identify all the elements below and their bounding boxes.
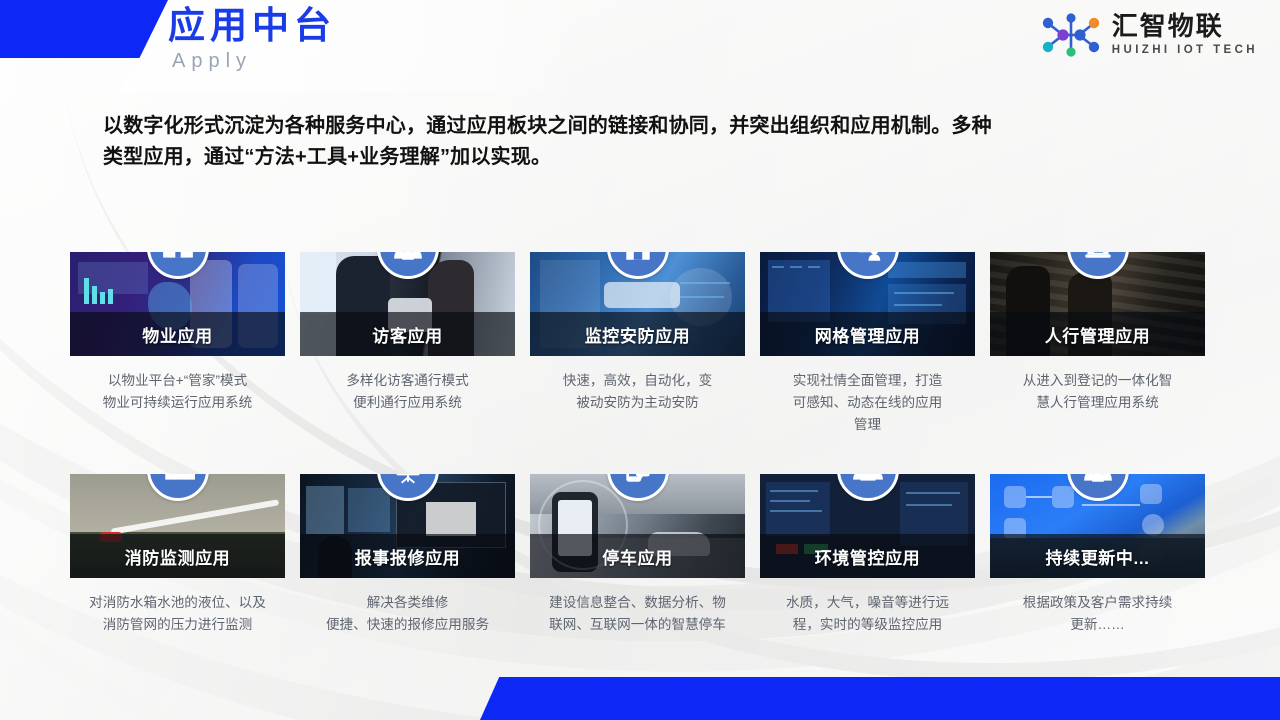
card-title: 监控安防应用 (585, 322, 691, 347)
card-xiaofang[interactable]: 消防监测应用 对消防水箱水池的液位、以及 消防管网的压力进行监测 (70, 474, 285, 636)
card-title-band: 监控安防应用 (530, 312, 745, 356)
page-subtitle: Apply (172, 50, 252, 73)
desc-line: 可感知、动态在线的应用 (762, 392, 973, 414)
card-image: 停车应用 (530, 474, 745, 578)
card-description: 根据政策及客户需求持续 更新…… (990, 592, 1205, 636)
card-image: 报事报修应用 (300, 474, 515, 578)
header-blue-shape (0, 0, 168, 58)
card-title-band: 报事报修应用 (300, 534, 515, 578)
card-title-band: 人行管理应用 (990, 312, 1205, 356)
card-renxing[interactable]: 人行管理应用 从进入到登记的一体化智 慧人行管理应用系统 (990, 252, 1205, 436)
card-title: 停车应用 (602, 544, 672, 569)
page-title: 应用中台 (168, 6, 336, 46)
card-huanjing[interactable]: 环境管控应用 水质，大气，噪音等进行远 程，实时的等级监控应用 (760, 474, 975, 636)
desc-line: 便利通行应用系统 (302, 392, 513, 414)
logo-text-cn: 汇智物联 (1112, 13, 1258, 39)
card-tingche[interactable]: 停车应用 建设信息整合、数据分析、物 联网、互联网一体的智慧停车 (530, 474, 745, 636)
card-title: 消防监测应用 (125, 544, 231, 569)
card-title: 网格管理应用 (815, 322, 921, 347)
desc-line: 更新…… (992, 614, 1203, 636)
slide-root: 应用中台 Apply 汇智物联 (0, 0, 1280, 720)
card-description: 水质，大气，噪音等进行远 程，实时的等级监控应用 (760, 592, 975, 636)
card-title-band: 访客应用 (300, 312, 515, 356)
application-card-grid: 物业应用 以物业平台+“管家”模式 物业可持续运行应用系统 (70, 252, 1214, 636)
desc-line: 便捷、快速的报修应用服务 (302, 614, 513, 636)
card-description: 对消防水箱水池的液位、以及 消防管网的压力进行监测 (70, 592, 285, 636)
molecule-network-icon (1039, 12, 1103, 58)
brand-logo: 汇智物联 HUIZHI IOT TECH (1039, 12, 1258, 58)
card-image: 访客应用 (300, 252, 515, 356)
card-description: 快速，高效，自动化，变 被动安防为主动安防 (530, 370, 745, 414)
card-image: 消防监测应用 (70, 474, 285, 578)
footer-blue-shape (480, 677, 1280, 720)
card-image: 监控安防应用 (530, 252, 745, 356)
desc-line: 对消防水箱水池的液位、以及 (72, 592, 283, 614)
card-image: 环境管控应用 (760, 474, 975, 578)
desc-line: 建设信息整合、数据分析、物 (532, 592, 743, 614)
card-gengxin[interactable]: 持续更新中... 根据政策及客户需求持续 更新…… (990, 474, 1205, 636)
card-title: 人行管理应用 (1045, 322, 1151, 347)
card-title-band: 环境管控应用 (760, 534, 975, 578)
desc-line: 管理 (762, 414, 973, 436)
card-title-band: 停车应用 (530, 534, 745, 578)
card-title: 持续更新中... (1046, 544, 1150, 569)
card-jiankong[interactable]: 监控安防应用 快速，高效，自动化，变 被动安防为主动安防 (530, 252, 745, 436)
desc-line: 根据政策及客户需求持续 (992, 592, 1203, 614)
desc-line: 从进入到登记的一体化智 (992, 370, 1203, 392)
card-image: 持续更新中... (990, 474, 1205, 578)
card-description: 以物业平台+“管家”模式 物业可持续运行应用系统 (70, 370, 285, 414)
desc-line: 以物业平台+“管家”模式 (72, 370, 283, 392)
card-image: 人行管理应用 (990, 252, 1205, 356)
card-baoxiu[interactable]: 报事报修应用 解决各类维修 便捷、快速的报修应用服务 (300, 474, 515, 636)
intro-line-1: 以数字化形式沉淀为各种服务中心，通过应用板块之间的链接和协同，并突出组织和应用机… (103, 111, 1178, 142)
intro-line-2: 类型应用，通过“方法+工具+业务理解”加以实现。 (103, 142, 1178, 173)
card-image: 物业应用 (70, 252, 285, 356)
card-title: 物业应用 (142, 322, 212, 347)
card-row-1: 物业应用 以物业平台+“管家”模式 物业可持续运行应用系统 (70, 252, 1214, 436)
card-fangke[interactable]: 访客应用 多样化访客通行模式 便利通行应用系统 (300, 252, 515, 436)
desc-line: 程，实时的等级监控应用 (762, 614, 973, 636)
card-description: 实现社情全面管理，打造 可感知、动态在线的应用 管理 (760, 370, 975, 436)
card-description: 解决各类维修 便捷、快速的报修应用服务 (300, 592, 515, 636)
card-title-band: 网格管理应用 (760, 312, 975, 356)
card-image: $ 网格管理应用 (760, 252, 975, 356)
desc-line: 慧人行管理应用系统 (992, 392, 1203, 414)
desc-line: 多样化访客通行模式 (302, 370, 513, 392)
desc-line: 消防管网的压力进行监测 (72, 614, 283, 636)
card-description: 从进入到登记的一体化智 慧人行管理应用系统 (990, 370, 1205, 414)
desc-line: 水质，大气，噪音等进行远 (762, 592, 973, 614)
desc-line: 实现社情全面管理，打造 (762, 370, 973, 392)
logo-text-en: HUIZHI IOT TECH (1112, 45, 1258, 57)
card-title: 环境管控应用 (815, 544, 921, 569)
desc-line: 快速，高效，自动化，变 (532, 370, 743, 392)
card-row-2: 消防监测应用 对消防水箱水池的液位、以及 消防管网的压力进行监测 (70, 474, 1214, 636)
intro-paragraph: 以数字化形式沉淀为各种服务中心，通过应用板块之间的链接和协同，并突出组织和应用机… (103, 111, 1178, 173)
desc-line: 被动安防为主动安防 (532, 392, 743, 414)
card-wuye[interactable]: 物业应用 以物业平台+“管家”模式 物业可持续运行应用系统 (70, 252, 285, 436)
card-description: 多样化访客通行模式 便利通行应用系统 (300, 370, 515, 414)
card-description: 建设信息整合、数据分析、物 联网、互联网一体的智慧停车 (530, 592, 745, 636)
card-wangge[interactable]: $ 网格管理应用 实现社情全面管理，打造 可感知、动态在线的应用 管理 (760, 252, 975, 436)
card-title-band: 持续更新中... (990, 534, 1205, 578)
desc-line: 解决各类维修 (302, 592, 513, 614)
footer-bar (0, 677, 1280, 720)
card-title: 报事报修应用 (355, 544, 461, 569)
card-title-band: 物业应用 (70, 312, 285, 356)
card-title-band: 消防监测应用 (70, 534, 285, 578)
desc-line: 物业可持续运行应用系统 (72, 392, 283, 414)
card-title: 访客应用 (372, 322, 442, 347)
desc-line: 联网、互联网一体的智慧停车 (532, 614, 743, 636)
